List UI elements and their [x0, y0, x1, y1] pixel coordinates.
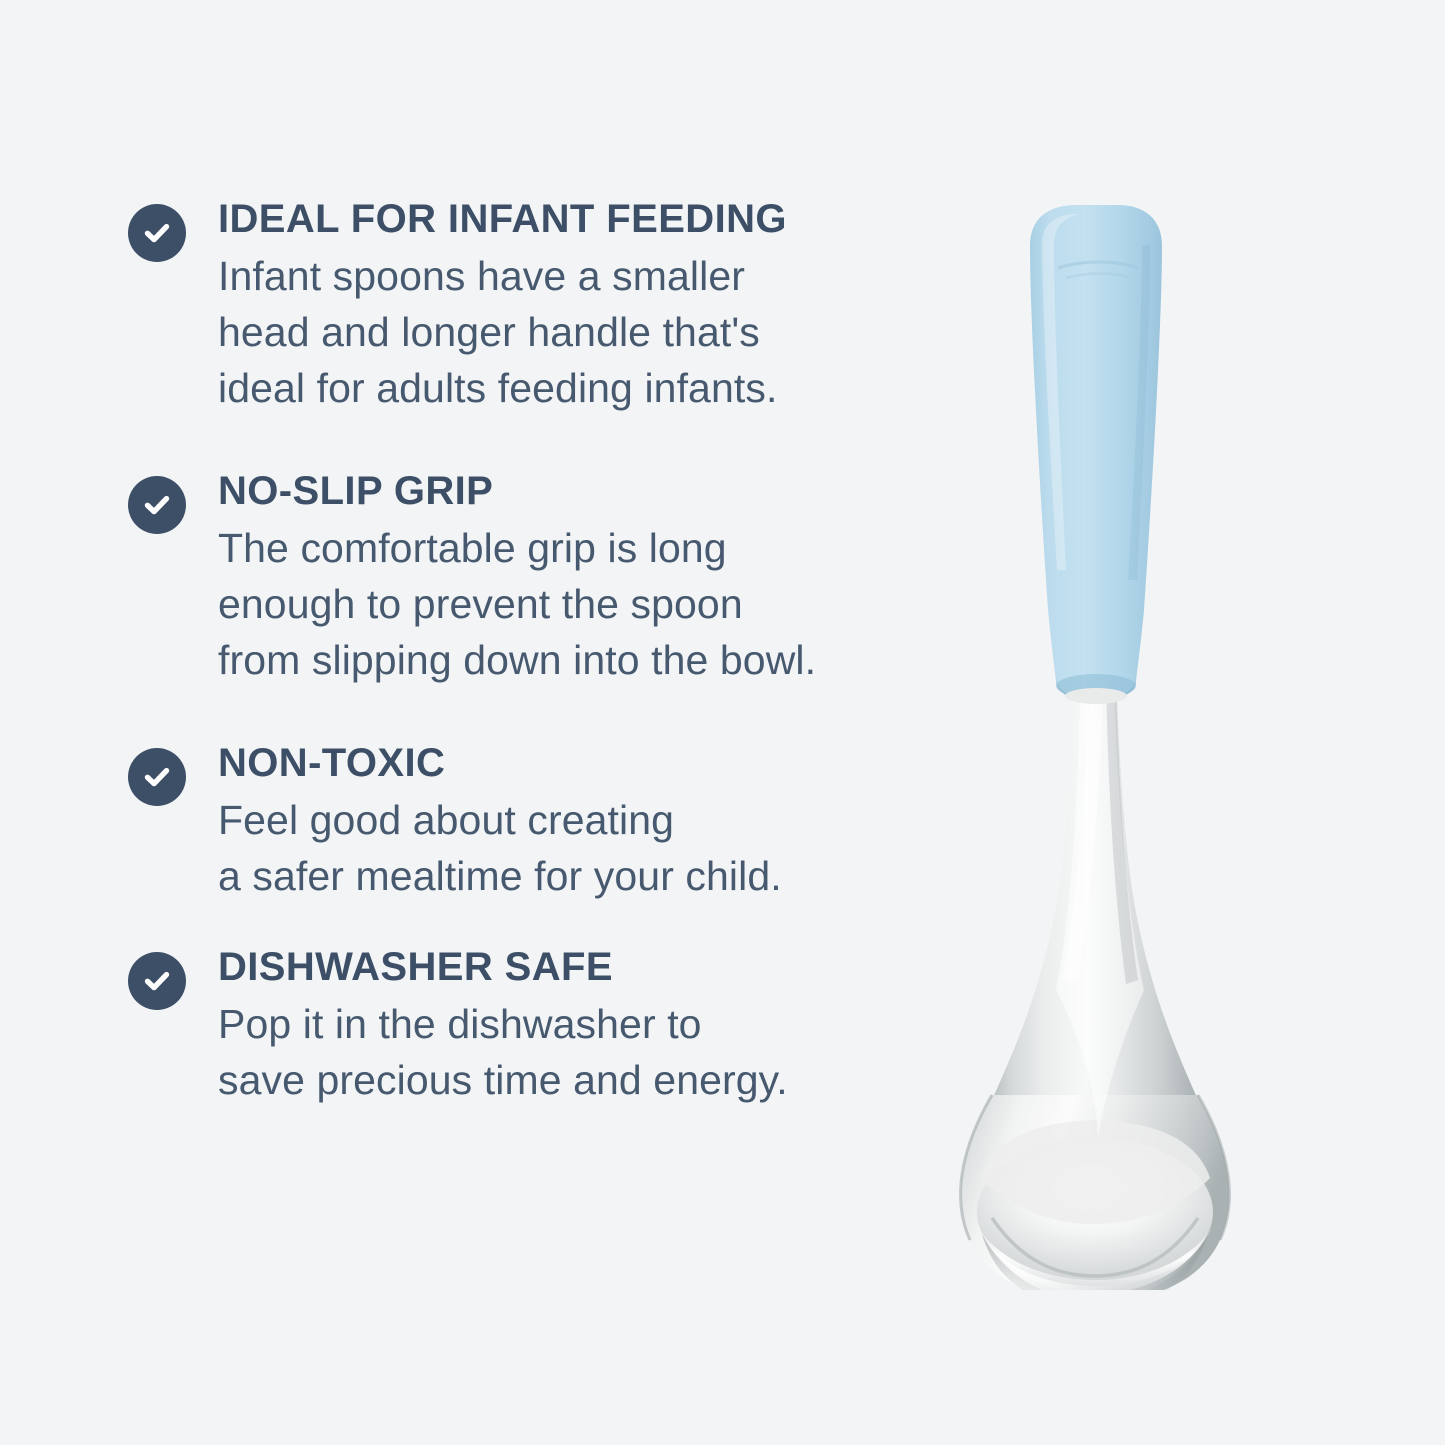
product-image-baby-spoon	[930, 190, 1260, 1290]
feature-list: IDEAL FOR INFANT FEEDING Infant spoons h…	[128, 196, 888, 1148]
feature-description-line: Infant spoons have a smaller	[218, 248, 888, 304]
feature-title: NO-SLIP GRIP	[218, 468, 888, 514]
feature-description-line: enough to prevent the spoon	[218, 576, 888, 632]
feature-description: Feel good about creating a safer mealtim…	[218, 792, 888, 904]
feature-description-line: head and longer handle that's	[218, 304, 888, 360]
feature-item-ideal-for-infant-feeding: IDEAL FOR INFANT FEEDING Infant spoons h…	[128, 196, 888, 416]
check-circle-icon	[128, 748, 186, 806]
feature-item-non-toxic: NON-TOXIC Feel good about creating a saf…	[128, 740, 888, 904]
feature-title: DISHWASHER SAFE	[218, 944, 888, 990]
feature-item-dishwasher-safe: DISHWASHER SAFE Pop it in the dishwasher…	[128, 944, 888, 1108]
feature-title: NON-TOXIC	[218, 740, 888, 786]
feature-description: The comfortable grip is long enough to p…	[218, 520, 888, 688]
feature-description-line: The comfortable grip is long	[218, 520, 888, 576]
feature-description-line: Pop it in the dishwasher to	[218, 996, 888, 1052]
feature-description-line: ideal for adults feeding infants.	[218, 360, 888, 416]
check-circle-icon	[128, 952, 186, 1010]
check-circle-icon	[128, 476, 186, 534]
infographic-canvas: IDEAL FOR INFANT FEEDING Infant spoons h…	[0, 0, 1445, 1445]
neck-collar-metal	[1065, 688, 1127, 704]
feature-description: Infant spoons have a smaller head and lo…	[218, 248, 888, 416]
feature-description-line: a safer mealtime for your child.	[218, 848, 888, 904]
baby-feeding-spoon-illustration	[930, 190, 1260, 1290]
feature-title: IDEAL FOR INFANT FEEDING	[218, 196, 888, 242]
check-circle-icon	[128, 204, 186, 262]
feature-item-no-slip-grip: NO-SLIP GRIP The comfortable grip is lon…	[128, 468, 888, 688]
feature-description: Pop it in the dishwasher to save preciou…	[218, 996, 888, 1108]
feature-description-line: Feel good about creating	[218, 792, 888, 848]
feature-description-line: save precious time and energy.	[218, 1052, 888, 1108]
feature-description-line: from slipping down into the bowl.	[218, 632, 888, 688]
